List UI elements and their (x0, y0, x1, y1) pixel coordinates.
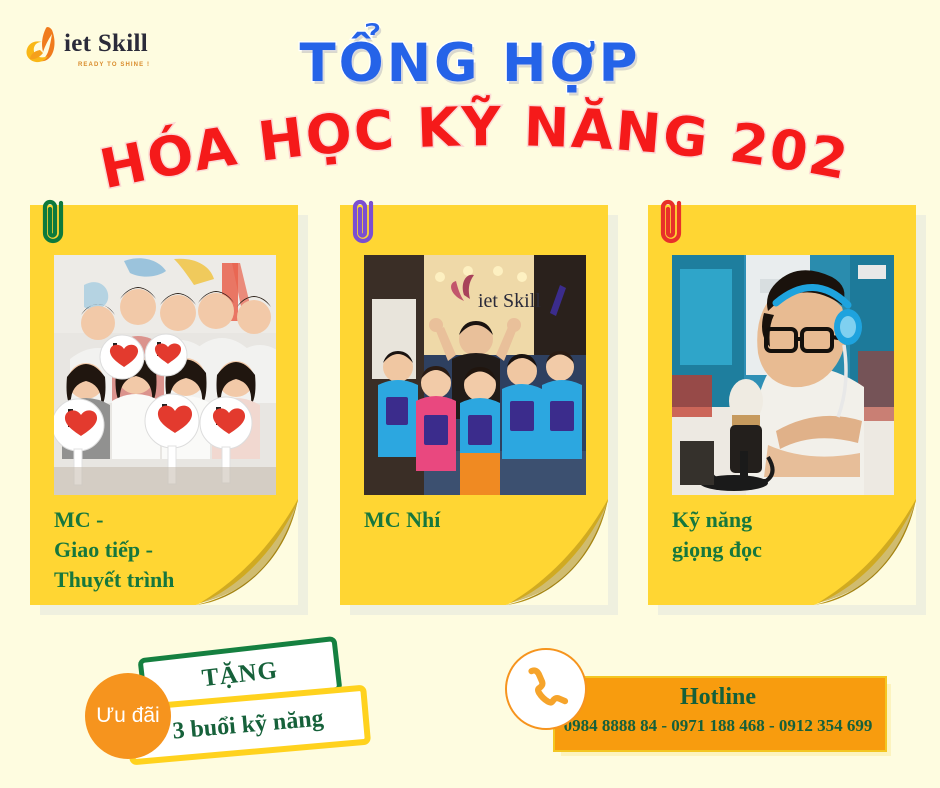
course-card-1[interactable]: MC - Giao tiếp - Thuyết trình (30, 205, 298, 605)
hotline-numbers[interactable]: 0984 8888 84 - 0971 188 468 - 0912 354 6… (545, 716, 891, 736)
headline-primary: TỔNG HỢP (0, 33, 940, 94)
card-body: iet Skill (340, 205, 608, 605)
course-label: Kỹ năng giọng đọc (672, 505, 762, 565)
svg-text:iet Skill: iet Skill (478, 290, 541, 312)
headline-secondary: KHÓA HỌC KỸ NĂNG 2021 (0, 100, 940, 190)
promo-badge: Ưu đãi (85, 673, 171, 759)
hotline-title: Hotline (553, 684, 883, 711)
photo-ky-nang-giong-doc (672, 255, 894, 495)
page-curl (808, 497, 916, 605)
paperclip-green-icon (36, 193, 72, 255)
promo-poster: iet Skill READY TO SHINE ! TỔNG HỢP KHÓA… (0, 0, 940, 788)
photo-mc-nhi: iet Skill (364, 255, 586, 495)
page-curl (190, 497, 298, 605)
course-card-3[interactable]: Kỹ năng giọng đọc (648, 205, 916, 605)
card-body: MC - Giao tiếp - Thuyết trình (30, 205, 298, 605)
paperclip-purple-icon (346, 193, 382, 255)
paperclip-red-icon (654, 193, 690, 255)
course-label: MC Nhí (364, 505, 440, 535)
course-label: MC - Giao tiếp - Thuyết trình (54, 505, 174, 595)
phone-icon[interactable] (505, 648, 587, 730)
course-card-2[interactable]: iet Skill (340, 205, 608, 605)
photo-mc-giao-tiep-thuyet-trinh (54, 255, 276, 495)
card-body: Kỹ năng giọng đọc (648, 205, 916, 605)
page-curl (500, 497, 608, 605)
hotline-banner[interactable]: Hotline 0984 8888 84 - 0971 188 468 - 09… (505, 648, 895, 758)
promo-offer: TẶNG 3 buổi kỹ năng Ưu đãi (85, 645, 385, 765)
